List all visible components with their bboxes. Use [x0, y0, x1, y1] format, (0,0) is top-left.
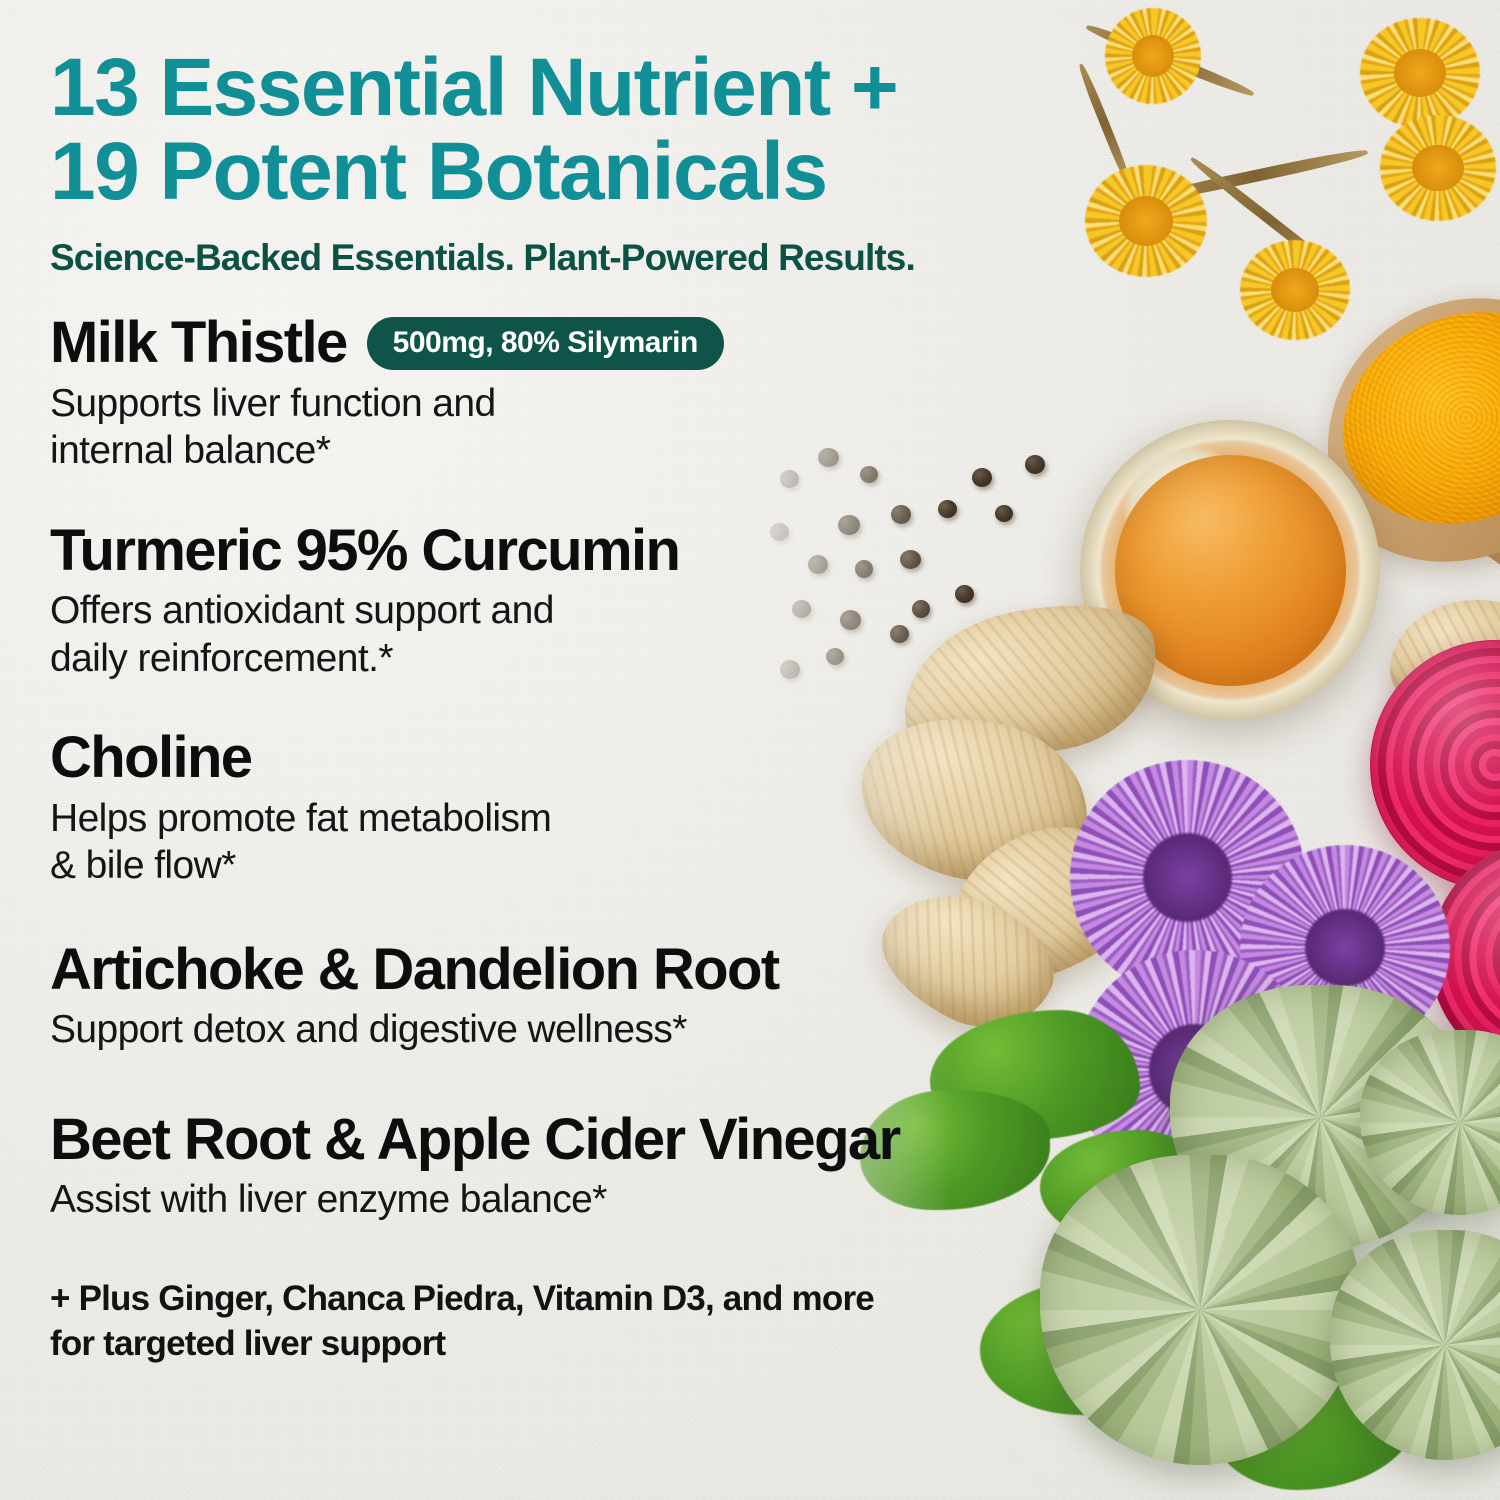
additional-ingredients-note: + Plus Ginger, Chanca Piedra, Vitamin D3… — [50, 1277, 1230, 1365]
subheadline: Science-Backed Essentials. Plant-Powered… — [50, 237, 1230, 279]
headline-line-1: 13 Essential Nutrient + — [50, 42, 897, 133]
ingredient-name: Beet Root & Apple Cider Vinegar — [50, 1110, 900, 1170]
ingredient-name: Choline — [50, 728, 251, 788]
ingredient-heading: Milk Thistle 500mg, 80% Silymarin — [50, 313, 1230, 373]
ingredient-section-beet-acv: Beet Root & Apple Cider Vinegar Assist w… — [50, 1110, 1230, 1224]
ingredient-name: Artichoke & Dandelion Root — [50, 940, 779, 1000]
ingredient-section-choline: Choline Helps promote fat metabolism & b… — [50, 728, 1230, 889]
ingredient-description: Assist with liver enzyme balance* — [50, 1176, 1230, 1224]
ingredient-description: Support detox and digestive wellness* — [50, 1006, 1230, 1054]
dosage-badge: 500mg, 80% Silymarin — [367, 317, 724, 370]
ingredient-heading: Choline — [50, 728, 1230, 788]
headline-line-2: 19 Potent Botanicals — [50, 130, 1230, 214]
ingredient-heading: Turmeric 95% Curcumin — [50, 521, 1230, 581]
marketing-copy: 13 Essential Nutrient + 19 Potent Botani… — [0, 0, 1230, 1500]
ingredient-description: Offers antioxidant support and daily rei… — [50, 587, 1230, 682]
ingredient-section-artichoke-dandelion: Artichoke & Dandelion Root Support detox… — [50, 940, 1230, 1054]
dandelion-flower — [1360, 18, 1480, 128]
dandelion-flower — [1240, 240, 1350, 340]
ingredient-name: Turmeric 95% Curcumin — [50, 521, 679, 581]
dandelion-flower — [1380, 115, 1496, 221]
beet-slice — [1370, 640, 1500, 890]
ingredient-description: Helps promote fat metabolism & bile flow… — [50, 795, 1230, 890]
ingredient-name: Milk Thistle — [50, 313, 347, 373]
ingredient-description: Supports liver function and internal bal… — [50, 380, 1230, 475]
page-title: 13 Essential Nutrient + 19 Potent Botani… — [50, 46, 1230, 213]
ingredient-heading: Beet Root & Apple Cider Vinegar — [50, 1110, 1230, 1170]
ingredient-section-turmeric: Turmeric 95% Curcumin Offers antioxidant… — [50, 521, 1230, 682]
ingredient-heading: Artichoke & Dandelion Root — [50, 940, 1230, 1000]
ingredient-section-milk-thistle: Milk Thistle 500mg, 80% Silymarin Suppor… — [50, 313, 1230, 474]
